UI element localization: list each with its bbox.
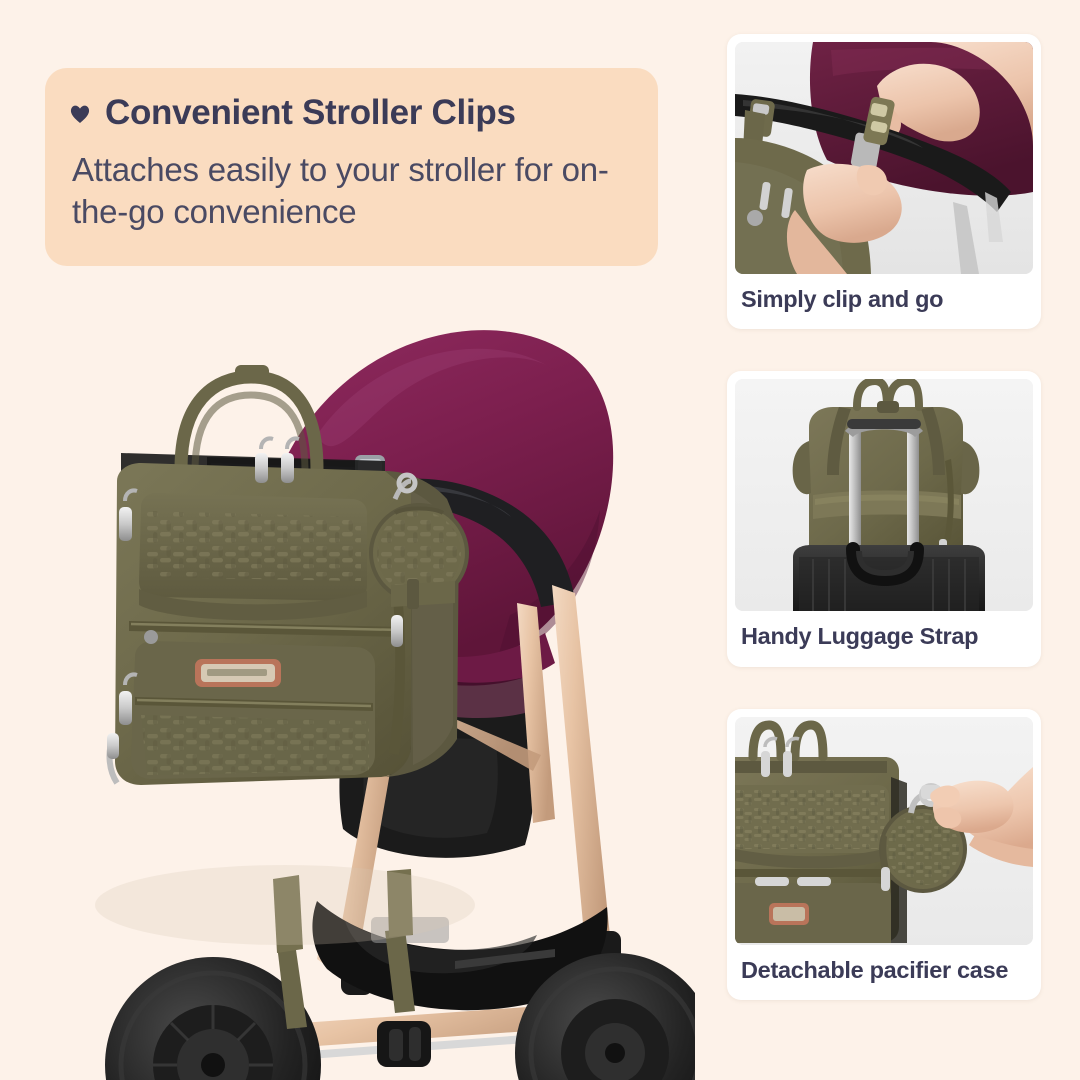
- page-subtitle: Attaches easily to your stroller for on-…: [72, 149, 624, 235]
- feature-card-detachable-pacifier-case[interactable]: Detachable pacifier case: [727, 709, 1041, 1000]
- feature-photo-handy-luggage-strap: [735, 379, 1033, 611]
- feature-card-handy-luggage-strap[interactable]: Handy Luggage Strap: [727, 371, 1041, 666]
- feature-caption: Simply clip and go: [735, 274, 1033, 323]
- page-title: Convenient Stroller Clips: [105, 94, 516, 133]
- hero-product-photo: [55, 285, 695, 1080]
- feature-caption: Detachable pacifier case: [735, 945, 1033, 994]
- feature-caption: Handy Luggage Strap: [735, 611, 1033, 660]
- infographic-page: Convenient Stroller Clips Attaches easil…: [0, 0, 1080, 1080]
- headline-banner: Convenient Stroller Clips Attaches easil…: [45, 68, 658, 266]
- feature-card-simply-clip-and-go[interactable]: Simply clip and go: [727, 34, 1041, 329]
- feature-photo-simply-clip-and-go: [735, 42, 1033, 274]
- feature-card-list: Simply clip and go: [727, 34, 1041, 1042]
- heart-icon: [69, 104, 91, 124]
- feature-photo-detachable-pacifier-case: [735, 717, 1033, 945]
- headline-row: Convenient Stroller Clips: [69, 94, 624, 133]
